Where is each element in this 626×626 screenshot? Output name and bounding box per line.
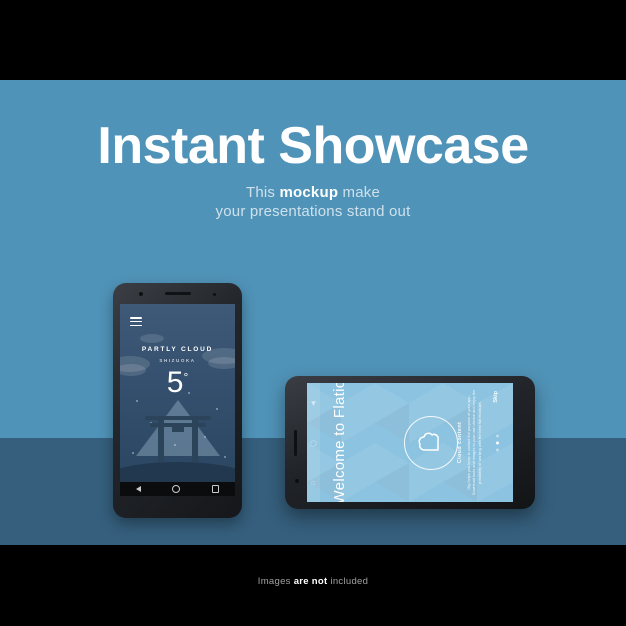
onboarding-app-screen[interactable]: ◀ ◯ □ Welcome to Flatic Cloud content Gi… bbox=[307, 383, 513, 502]
subtitle-line-2: your presentations stand out bbox=[0, 202, 626, 221]
android-navigation-bar[interactable]: ◀ ◯ □ bbox=[307, 383, 320, 502]
ground-shape bbox=[120, 462, 235, 482]
footer-text-pre: Images bbox=[258, 576, 294, 587]
earpiece-speaker bbox=[165, 292, 191, 295]
content-body-text: Gig helps you keep in contact the purpos… bbox=[466, 383, 482, 502]
pagination-dot[interactable] bbox=[496, 448, 499, 451]
cloud-shape bbox=[140, 334, 164, 343]
proximity-sensor-icon bbox=[213, 293, 216, 296]
front-camera-icon bbox=[139, 292, 143, 296]
subtitle-text-pre: This bbox=[246, 184, 280, 201]
footer-disclaimer: Images are not included bbox=[0, 576, 626, 587]
pagination-dots[interactable] bbox=[496, 434, 499, 451]
subtitle-line-1: This mockup make bbox=[0, 183, 626, 202]
letterbox-bar-top bbox=[0, 0, 626, 80]
pagination-dot-active[interactable] bbox=[496, 441, 499, 444]
scene-area: Instant Showcase This mockup make your p… bbox=[0, 80, 626, 545]
page-subtitle: This mockup make your presentations stan… bbox=[0, 183, 626, 221]
home-circle-icon[interactable] bbox=[172, 485, 180, 493]
subtitle-text-strong: mockup bbox=[279, 184, 338, 201]
degree-symbol: ° bbox=[183, 370, 188, 384]
earpiece-speaker bbox=[294, 430, 297, 456]
recents-square-icon[interactable] bbox=[212, 485, 220, 493]
pagination-dot[interactable] bbox=[496, 434, 499, 437]
torii-gate-illustration bbox=[145, 416, 211, 462]
cloud-glyph bbox=[405, 417, 457, 469]
back-triangle-icon[interactable]: ◀ bbox=[310, 401, 317, 406]
content-heading: Cloud content bbox=[457, 383, 463, 502]
landscape-phone-device[interactable]: ◀ ◯ □ Welcome to Flatic Cloud content Gi… bbox=[285, 376, 535, 509]
mockup-presentation-slide: Instant Showcase This mockup make your p… bbox=[0, 0, 626, 626]
cloud-circle-icon bbox=[404, 416, 458, 470]
page-title: Instant Showcase bbox=[0, 120, 626, 172]
footer-text-strong: are not bbox=[294, 576, 328, 587]
weather-city-label: SHIZUOKA bbox=[120, 358, 235, 363]
weather-app-screen[interactable]: PARTLY CLOUD SHIZUOKA 5° bbox=[120, 304, 235, 482]
android-navigation-bar[interactable] bbox=[120, 482, 235, 496]
weather-condition-label: PARTLY CLOUD bbox=[120, 346, 235, 353]
hamburger-menu-icon[interactable] bbox=[130, 317, 142, 326]
snow-dot bbox=[132, 452, 134, 454]
recents-square-icon[interactable]: □ bbox=[311, 481, 317, 485]
footer-text-post: included bbox=[327, 576, 368, 587]
snow-dot bbox=[224, 456, 226, 458]
temperature-value: 5 bbox=[167, 366, 184, 399]
subtitle-text-post: make bbox=[338, 184, 380, 201]
home-circle-icon[interactable]: ◯ bbox=[310, 440, 317, 447]
front-camera-icon bbox=[295, 479, 299, 483]
weather-temperature: 5° bbox=[120, 368, 235, 398]
onboarding-welcome-title: Welcome to Flatic bbox=[321, 383, 357, 502]
back-triangle-icon[interactable] bbox=[136, 486, 141, 492]
portrait-phone-device[interactable]: PARTLY CLOUD SHIZUOKA 5° bbox=[113, 283, 242, 518]
